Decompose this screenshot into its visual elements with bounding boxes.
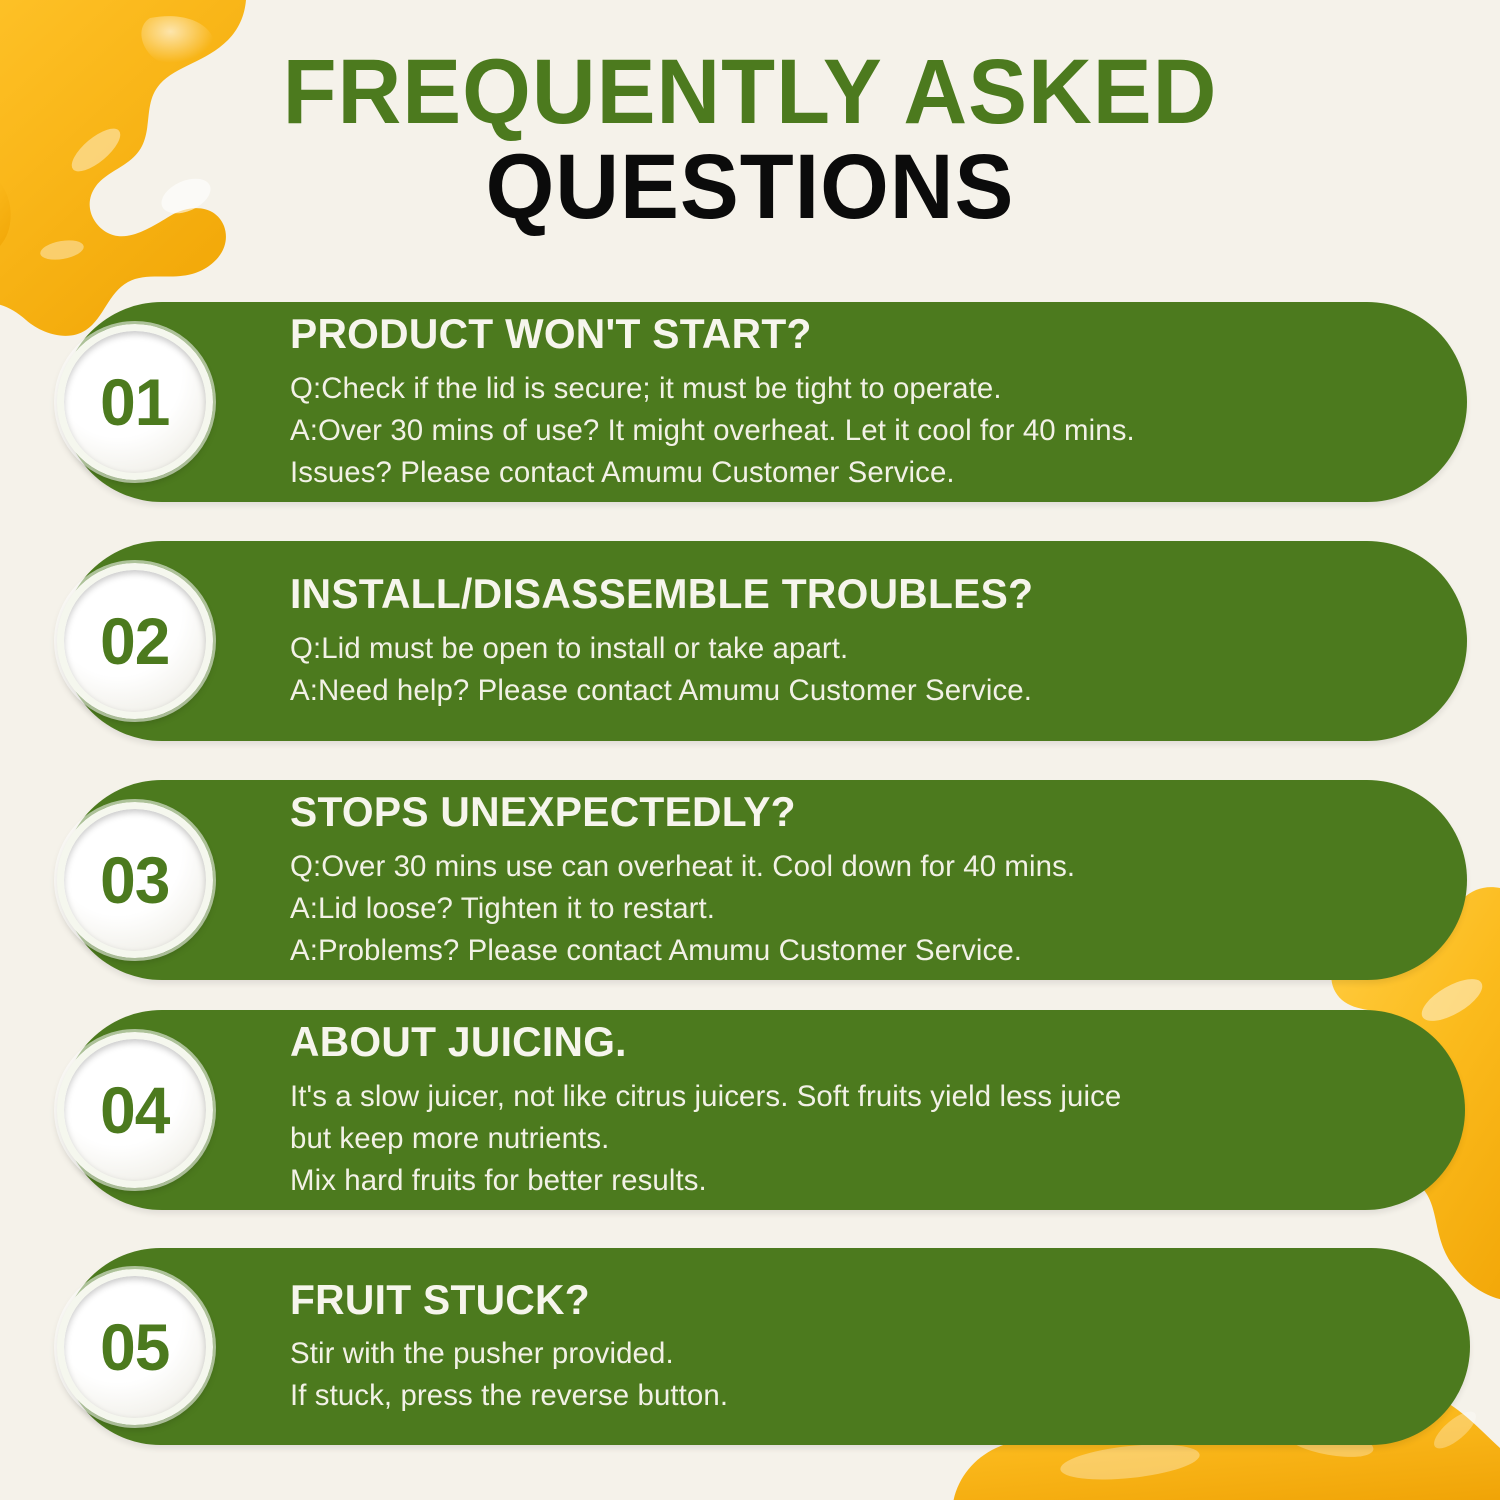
faq-card-05[interactable]: 05 FRUIT STUCK? Stir with the pusher pro… [62, 1248, 1470, 1445]
faq-badge-04: 04 [57, 1032, 213, 1188]
faq-line: Issues? Please contact Amumu Customer Se… [290, 452, 1404, 494]
faq-badge-number: 02 [100, 608, 169, 674]
faq-body-02: INSTALL/DISASSEMBLE TROUBLES? Q:Lid must… [290, 541, 1427, 741]
faq-line: It's a slow juicer, not like citrus juic… [290, 1076, 1402, 1118]
page-title: FREQUENTLY ASKED QUESTIONS [0, 46, 1500, 236]
faq-heading: PRODUCT WON'T START? [290, 310, 1393, 357]
faq-badge-number: 04 [100, 1077, 169, 1143]
faq-line: Stir with the pusher provided. [290, 1333, 1407, 1375]
faq-badge-05: 05 [57, 1269, 213, 1425]
faq-line: Mix hard fruits for better results. [290, 1160, 1402, 1202]
faq-line: If stuck, press the reverse button. [290, 1375, 1407, 1417]
faq-card-03[interactable]: 03 STOPS UNEXPECTEDLY? Q:Over 30 mins us… [62, 780, 1467, 980]
faq-answer-lines: Q:Lid must be open to install or take ap… [290, 628, 1427, 712]
faq-line: A:Problems? Please contact Amumu Custome… [290, 930, 1404, 972]
faq-card-04[interactable]: 04 ABOUT JUICING. It's a slow juicer, no… [62, 1010, 1465, 1210]
faq-body-04: ABOUT JUICING. It's a slow juicer, not l… [290, 1010, 1425, 1210]
faq-badge-number: 01 [100, 369, 169, 435]
page-title-line-2: QUESTIONS [30, 140, 1470, 236]
faq-card-02[interactable]: 02 INSTALL/DISASSEMBLE TROUBLES? Q:Lid m… [62, 541, 1467, 741]
faq-line: A:Lid loose? Tighten it to restart. [290, 888, 1404, 930]
faq-answer-lines: Stir with the pusher provided. If stuck,… [290, 1333, 1430, 1417]
faq-line: A:Need help? Please contact Amumu Custom… [290, 670, 1404, 712]
faq-heading: STOPS UNEXPECTEDLY? [290, 788, 1393, 835]
faq-heading: FRUIT STUCK? [290, 1276, 1396, 1323]
faq-badge-01: 01 [57, 324, 213, 480]
faq-line: Q:Check if the lid is secure; it must be… [290, 368, 1404, 410]
faq-badge-02: 02 [57, 563, 213, 719]
faq-badge-number: 03 [100, 847, 169, 913]
faq-heading: INSTALL/DISASSEMBLE TROUBLES? [290, 570, 1393, 617]
faq-line: but keep more nutrients. [290, 1118, 1402, 1160]
faq-body-05: FRUIT STUCK? Stir with the pusher provid… [290, 1248, 1430, 1445]
faq-answer-lines: It's a slow juicer, not like citrus juic… [290, 1076, 1425, 1202]
faq-line: Q:Lid must be open to install or take ap… [290, 628, 1404, 670]
faq-line: Q:Over 30 mins use can overheat it. Cool… [290, 846, 1404, 888]
faq-page: FREQUENTLY ASKED QUESTIONS 01 PRODUCT WO… [0, 0, 1500, 1500]
page-title-line-1: FREQUENTLY ASKED [30, 46, 1470, 140]
faq-line: A:Over 30 mins of use? It might overheat… [290, 410, 1404, 452]
faq-heading: ABOUT JUICING. [290, 1018, 1391, 1065]
faq-answer-lines: Q:Check if the lid is secure; it must be… [290, 368, 1427, 494]
faq-badge-03: 03 [57, 802, 213, 958]
faq-body-03: STOPS UNEXPECTEDLY? Q:Over 30 mins use c… [290, 780, 1427, 980]
faq-body-01: PRODUCT WON'T START? Q:Check if the lid … [290, 302, 1427, 502]
faq-answer-lines: Q:Over 30 mins use can overheat it. Cool… [290, 846, 1427, 972]
faq-card-01[interactable]: 01 PRODUCT WON'T START? Q:Check if the l… [62, 302, 1467, 502]
faq-badge-number: 05 [100, 1314, 169, 1380]
